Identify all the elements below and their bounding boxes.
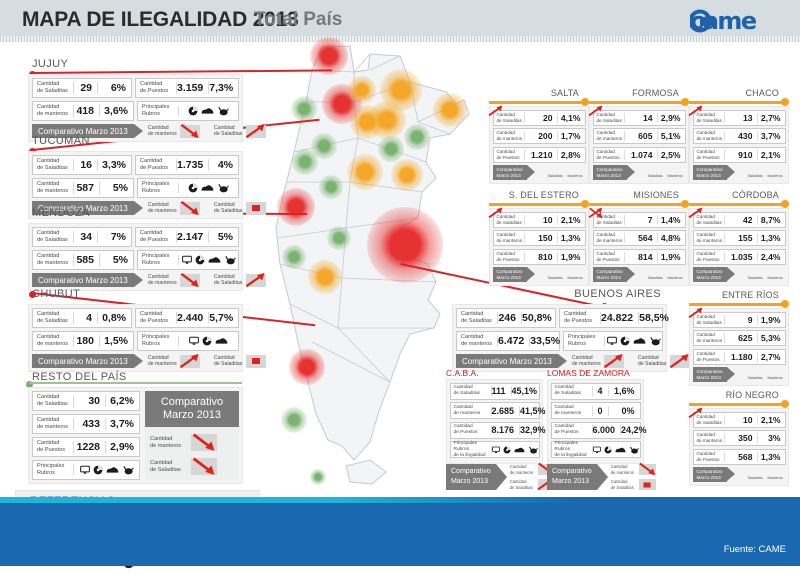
cell-value: 14: [624, 113, 657, 123]
cell-label: Cantidadde Puestos: [136, 311, 176, 325]
rubros-icons: [178, 183, 238, 193]
comparativo-arrows: SaladitasManteros: [748, 367, 786, 382]
map-bubble-orange: [308, 260, 342, 294]
cell-label: Cantidadde Puestos: [694, 451, 724, 462]
trend-up-icon: [749, 467, 761, 476]
disc-icon: [202, 336, 212, 346]
cell-label: Cantidadde Saladitas: [451, 385, 491, 397]
cell-puestos: Cantidadde Puestos9102,1%: [693, 147, 786, 163]
comparativo-text: ComparativoMarzo 2013: [697, 167, 723, 179]
cell-label: Cantidadde manteros: [594, 232, 624, 243]
cell-value: 2.440: [176, 312, 208, 324]
cell-label: Cantidadde Saladitas: [457, 311, 497, 325]
cell-value: 246: [497, 312, 521, 324]
cell-value: 1.074: [624, 150, 657, 160]
resto-arrow-label: Cantidadde Saladitas: [150, 460, 188, 474]
cell-label: Cantidadde Puestos: [552, 424, 592, 436]
comparativo-item-manteros: Cantidadde manteros: [611, 464, 656, 475]
comparativo-text: ComparativoMarzo 2013: [552, 467, 592, 487]
cell-value: 6.472: [497, 335, 529, 347]
rubros-icons: [604, 336, 662, 346]
panel-name-label: MENDOZA: [32, 207, 90, 219]
cell-saladitas: Cantidadde Saladitas91,9%: [693, 312, 786, 328]
resto-comparativo-text: ComparativoMarzo 2013: [147, 396, 237, 422]
comparativo-strip: Comparativo Marzo 2013Cantidadde mantero…: [32, 354, 239, 368]
cell-label: Cantidadde manteros: [33, 417, 73, 431]
cell-percent: 1,9%: [657, 252, 685, 262]
comparativo-item-label: Manteros: [668, 174, 683, 178]
comparativo-item-saladitas: Cantidadde Saladitas: [214, 354, 266, 368]
cell-percent: 5,1%: [657, 131, 685, 141]
cell-rubros-wrap: PrincipalesRubros: [32, 460, 140, 480]
comparativo-item-label: Cantidadde manteros: [148, 355, 178, 367]
map-bubble-red: [289, 349, 325, 385]
map-bubble-green: [281, 407, 307, 433]
map-bubble-orange: [391, 159, 423, 191]
cell-percent: 2,7%: [757, 352, 785, 362]
comparativo-tag: ComparativoMarzo 2013: [493, 267, 527, 282]
comparativo-strip: ComparativoMarzo 2013SaladitasManteros: [693, 467, 786, 482]
cell-value: 1.180: [724, 352, 757, 362]
disc-icon: [604, 446, 612, 454]
panel-accent-dot: [781, 98, 789, 106]
map-bubble-green: [282, 245, 306, 269]
cell-label: PrincipalesRubros: [33, 463, 73, 477]
cell-percent: 2,1%: [557, 215, 585, 225]
cell-value: 10: [724, 415, 757, 425]
cell-value: 155: [724, 233, 757, 243]
cell-percent: 3%: [757, 433, 785, 443]
trend-down-icon: [191, 434, 217, 451]
cell-row: Cantidadde Saladitas163,3%Cantidadde Pue…: [32, 155, 239, 175]
comparativo-arrows: SaladitasManteros: [748, 165, 786, 180]
panel-body: Cantidadde Saladitas347%Cantidadde Puest…: [28, 223, 243, 291]
comparativo-item-label: Cantidadde Saladitas: [214, 202, 244, 214]
cell-puestos: Cantidadde Puestos8.17632,9%: [450, 422, 540, 439]
monitor-icon: [593, 446, 601, 454]
cell-percent: 24,2%: [620, 425, 652, 435]
cell-label: Cantidadde manteros: [33, 334, 73, 348]
comparativo-item-label: Cantidadde Saladitas: [638, 355, 668, 367]
trend-up-icon: [670, 355, 690, 368]
panel-name-label: JUJUY: [32, 58, 68, 70]
comparativo-item-saladitas: Saladitas: [648, 267, 663, 280]
chicken-icon: [649, 336, 661, 346]
disc-icon: [620, 336, 630, 346]
comparativo-item-label: Manteros: [768, 276, 783, 280]
map-bubble-green: [327, 226, 351, 250]
comparativo-item-manteros: Manteros: [568, 165, 583, 178]
cell-value: 1.735: [176, 159, 208, 171]
cell-saladitas: Cantidadde Saladitas347%: [32, 227, 132, 247]
cell-label: Cantidadde manteros: [694, 130, 724, 141]
trend-down-icon: [180, 202, 200, 215]
comparativo-item-saladitas: Cantidadde Saladitas: [214, 124, 266, 138]
cell-puestos: Cantidadde Puestos24.82258,5%: [559, 308, 663, 328]
rubros-icons: [73, 465, 139, 475]
cell-label: Cantidadde manteros: [494, 232, 524, 243]
cell-value: 6.000: [592, 425, 621, 435]
cell-rubros-wrap: Principales Rubrosde la ilegalidad: [450, 441, 540, 458]
cell-manteros: Cantidadde manteros1801,5%: [32, 331, 134, 351]
cell-saladitas: Cantidadde Saladitas102,1%: [493, 212, 586, 228]
panel-body: Cantidadde Saladitas102,1%Cantidadde man…: [689, 408, 789, 486]
cell-percent: 32,9%: [519, 425, 551, 435]
comparativo-text: ComparativoMarzo 2013: [497, 167, 523, 179]
comparativo-item-saladitas: Saladitas: [748, 165, 763, 178]
cell-puestos: Cantidadde Puestos2.4405,7%: [135, 308, 239, 328]
comparativo-tag: Comparativo Marzo 2013: [456, 354, 558, 368]
map-bubble-green: [310, 469, 326, 485]
shoe-icon: [215, 336, 228, 346]
cell-puestos: Cantidadde Puestos1.2102,8%: [493, 147, 586, 163]
comparativo-strip: ComparativoMarzo 2013Cantidadde manteros…: [547, 464, 644, 490]
cell-label: PrincipalesRubros: [564, 334, 604, 348]
cell-percent: 45,1%: [511, 386, 543, 396]
shoe-icon: [201, 106, 214, 116]
panel-body: Cantidadde Saladitas40,8%Cantidadde Pues…: [28, 304, 243, 372]
cell-row: Cantidadde manteros1801,5%PrincipalesRub…: [32, 331, 239, 351]
comparativo-strip: ComparativoMarzo 2013Cantidadde manteros…: [446, 464, 543, 490]
comparativo-arrows: SaladitasManteros: [648, 267, 686, 282]
trend-up-icon: [769, 467, 781, 476]
panel-name-label: RÍO NEGRO: [726, 390, 779, 400]
trend-up-icon: [569, 165, 581, 174]
cell-percent: 2,7%: [757, 113, 785, 123]
map-bubble-red: [277, 188, 315, 226]
comparativo-item-saladitas: Saladitas: [548, 267, 563, 280]
cell-row: Cantidadde Saladitas40,8%Cantidadde Pues…: [32, 308, 239, 328]
cell-label: Cantidadde manteros: [694, 432, 724, 443]
comparativo-item-saladitas: Saladitas: [548, 165, 563, 178]
panel-name-label: FORMOSA: [632, 88, 679, 98]
cell-value: 7: [624, 215, 657, 225]
comparativo-item-label: Cantidadde Saladitas: [214, 274, 244, 286]
panel-body: Cantidadde Saladitas41,6%Cantidadde mant…: [547, 379, 644, 464]
cell-manteros: Cantidadde manteros6255,3%: [693, 330, 786, 346]
comparativo-strip: ComparativoMarzo 2013SaladitasManteros: [693, 267, 786, 282]
cell-row: Cantidadde manteros5875%PrincipalesRubro…: [32, 178, 239, 198]
cell-percent: 58,5%: [638, 312, 672, 324]
comparativo-strip: ComparativoMarzo 2013SaladitasManteros: [693, 367, 786, 382]
cell-manteros: Cantidadde manteros6055,1%: [593, 128, 686, 144]
trend-up-icon: [569, 267, 581, 276]
panel-name-label: RESTO DEL PAÍS: [32, 371, 127, 383]
trend-up-icon: [246, 274, 266, 287]
map-bubble-green: [292, 149, 318, 175]
comparativo-text: ComparativoMarzo 2013: [697, 269, 723, 281]
cell-percent: 1,3%: [757, 233, 785, 243]
cell-value: 180: [73, 335, 99, 347]
cell-label: Cantidadde Puestos: [694, 149, 724, 160]
cell-puestos: Cantidadde Puestos3.1597,3%: [135, 78, 239, 98]
trend-up-icon: [769, 267, 781, 276]
shoe-icon: [106, 465, 119, 475]
comparativo-tag: ComparativoMarzo 2013: [547, 464, 597, 490]
cell-value: 564: [624, 233, 657, 243]
cell-row: Cantidadde Saladitas347%Cantidadde Puest…: [32, 227, 239, 247]
cell-label: PrincipalesRubros: [138, 181, 178, 195]
comparativo-item-label: Cantidadde Saladitas: [214, 355, 244, 367]
cell-manteros: Cantidadde manteros2.68541,5%: [450, 402, 540, 419]
cell-value: 2.147: [176, 231, 208, 243]
panel-body: Cantidadde Saladitas24650,8%Cantidadde P…: [452, 304, 667, 372]
cell-value: 4: [592, 386, 608, 396]
comparativo-arrows: SaladitasManteros: [548, 165, 586, 180]
cell-label: Cantidadde Saladitas: [552, 385, 592, 397]
cell-percent: 3,3%: [97, 159, 131, 171]
comparativo-item-label: Saladitas: [548, 174, 563, 178]
cell-rubros-wrap: PrincipalesRubros: [563, 331, 663, 351]
cell-row: Cantidadde manteros6.47233,5%Principales…: [456, 331, 663, 351]
panel-accent-dot: [781, 300, 789, 308]
resto-table: Cantidadde Saladitas306,2%Cantidadde man…: [32, 391, 140, 480]
comparativo-text: ComparativoMarzo 2013: [451, 467, 491, 487]
cell-label: Cantidadde manteros: [494, 130, 524, 141]
cell-label: Cantidadde Puestos: [136, 81, 176, 95]
cell-label: Cantidadde manteros: [33, 104, 73, 118]
rubros-icons: [178, 106, 238, 116]
cell-value: 1228: [73, 441, 105, 453]
trend-up-icon: [549, 267, 561, 276]
panel-name-label: ENTRE RÍOS: [722, 290, 779, 300]
map-bubble-green: [378, 136, 404, 162]
monitor-icon: [607, 336, 617, 346]
cell-value: 814: [624, 252, 657, 262]
cell-percent: 6%: [97, 82, 131, 94]
cell-saladitas: Cantidadde Saladitas24650,8%: [456, 308, 556, 328]
cell-percent: 41,5%: [519, 406, 551, 416]
cell-manteros: Cantidadde manteros5875%: [32, 178, 134, 198]
cell-label: Cantidadde manteros: [33, 253, 73, 267]
comparativo-item-saladitas: Saladitas: [648, 165, 663, 178]
trend-up-icon: [749, 165, 761, 174]
trend-down-icon: [649, 267, 661, 276]
chicken-icon: [224, 255, 236, 265]
trend-flat-icon: [246, 355, 266, 368]
cell-value: 810: [524, 252, 557, 262]
cell-row: Cantidadde Saladitas296%Cantidadde Puest…: [32, 78, 239, 98]
cell-value: 568: [724, 452, 757, 462]
cell-label: Principales Rubrosde la ilegalidad: [552, 441, 592, 459]
comparativo-tag: Comparativo Marzo 2013: [32, 273, 134, 287]
cell-value: 587: [73, 182, 99, 194]
cell-value: 150: [524, 233, 557, 243]
comparativo-tag: ComparativoMarzo 2013: [693, 165, 727, 180]
cell-value: 418: [73, 105, 99, 117]
comparativo-item-label: Cantidadde manteros: [572, 355, 602, 367]
comparativo-item-saladitas: Cantidadde Saladitas: [638, 354, 690, 368]
cell-value: 13: [724, 113, 757, 123]
cell-percent: 2,1%: [757, 150, 785, 160]
cell-label: Cantidadde manteros: [694, 332, 724, 343]
trend-up-icon: [246, 125, 266, 138]
panel-accent-dot: [781, 200, 789, 208]
shoe-icon: [633, 336, 646, 346]
map-bubble-orange: [350, 105, 384, 139]
comparativo-arrows: SaladitasManteros: [548, 267, 586, 282]
cell-saladitas: Cantidadde Saladitas40,8%: [32, 308, 132, 328]
cell-label: Cantidadde Saladitas: [33, 394, 73, 408]
map-bubble-orange: [347, 154, 383, 190]
resto-comparativo: ComparativoMarzo 2013Cantidadde manteros…: [145, 391, 239, 480]
cell-label: Cantidadde Puestos: [560, 311, 600, 325]
comparativo-item-label: Cantidadde Saladitas: [510, 479, 536, 489]
panel-body: Cantidadde Saladitas296%Cantidadde Puest…: [28, 74, 243, 142]
comparativo-item-label: Saladitas: [748, 476, 763, 480]
cell-row: Cantidadde manteros4183,6%PrincipalesRub…: [32, 101, 239, 121]
cell-label: Cantidadde Saladitas: [33, 230, 73, 244]
cell-percent: 4,1%: [557, 113, 585, 123]
comparativo-item-saladitas: Cantidadde Saladitas: [214, 201, 266, 215]
comparativo-item-label: Manteros: [568, 276, 583, 280]
came-logo-icon: came: [690, 8, 766, 34]
comparativo-item-saladitas: Saladitas: [748, 467, 763, 480]
shoe-icon: [201, 183, 214, 193]
trend-up-icon: [769, 165, 781, 174]
page-header: MAPA DE ILEGALIDAD 2013 Total País came: [0, 0, 800, 40]
trend-down-icon: [180, 274, 200, 287]
cell-value: 42: [724, 215, 757, 225]
cell-label: Cantidadde Saladitas: [33, 81, 73, 95]
cell-manteros: Cantidadde manteros1551,3%: [693, 230, 786, 246]
comparativo-text: ComparativoMarzo 2013: [597, 269, 623, 281]
comparativo-item-label: Cantidadde manteros: [611, 464, 637, 474]
cell-saladitas: Cantidadde Saladitas71,4%: [593, 212, 686, 228]
comparativo-item-manteros: Manteros: [768, 467, 783, 480]
cell-value: 9: [724, 315, 757, 325]
map-bubble-orange: [348, 76, 376, 104]
cell-puestos: Cantidadde Puestos6.00024,2%: [551, 422, 641, 439]
resto-comparativo-tag: ComparativoMarzo 2013: [145, 391, 239, 427]
cell-value: 625: [724, 333, 757, 343]
trend-down-icon: [180, 125, 200, 138]
comparativo-strip: ComparativoMarzo 2013SaladitasManteros: [693, 165, 786, 180]
shoe-icon: [208, 255, 221, 265]
comparativo-item-label: Saladitas: [748, 276, 763, 280]
map-bubble-green: [404, 124, 430, 150]
cell-percent: 5%: [99, 182, 133, 194]
cell-manteros: Cantidadde manteros6.47233,5%: [456, 331, 560, 351]
disc-icon: [188, 183, 198, 193]
disc-icon: [195, 255, 205, 265]
cell-label: PrincipalesRubros: [138, 334, 178, 348]
cell-row: Cantidadde manteros5855%PrincipalesRubro…: [32, 250, 239, 270]
cell-label: Cantidadde Puestos: [136, 158, 176, 172]
comparativo-item-manteros: Cantidadde manteros: [148, 273, 200, 287]
trend-up-icon: [749, 267, 761, 276]
cell-label: Cantidadde Puestos: [494, 149, 524, 160]
shoe-icon: [514, 446, 525, 454]
cell-manteros: Cantidadde manteros4303,7%: [693, 128, 786, 144]
trend-flat-icon: [639, 479, 656, 490]
comparativo-item-label: Cantidadde Saladitas: [214, 125, 244, 137]
cell-value: 111: [491, 386, 511, 396]
cell-percent: 2,8%: [557, 150, 585, 160]
cell-percent: 0,8%: [97, 312, 131, 324]
cell-percent: 5%: [208, 231, 238, 243]
comparativo-item-manteros: Manteros: [668, 165, 683, 178]
comparativo-text: ComparativoMarzo 2013: [697, 369, 723, 381]
cell-label: Cantidadde manteros: [33, 181, 73, 195]
cell-percent: 3,6%: [99, 105, 133, 117]
cell-label: Cantidadde Puestos: [694, 351, 724, 362]
cell-label: Cantidadde Puestos: [694, 251, 724, 262]
comparativo-item-label: Cantidadde manteros: [148, 202, 178, 214]
cell-label: Cantidadde Puestos: [494, 251, 524, 262]
cell-percent: 1,4%: [657, 215, 685, 225]
panel-name-label: TUCUMÁN: [32, 135, 90, 147]
panel-body: Cantidadde Saladitas428,7%Cantidadde man…: [689, 208, 789, 286]
cell-saladitas: Cantidadde Saladitas132,7%: [693, 110, 786, 126]
comparativo-item-manteros: Cantidadde manteros: [148, 201, 200, 215]
comparativo-item-manteros: Cantidadde manteros: [148, 124, 200, 138]
monitor-icon: [492, 446, 500, 454]
comparativo-arrows: SaladitasManteros: [648, 165, 686, 180]
cell-saladitas: Cantidadde Saladitas163,3%: [32, 155, 132, 175]
panel-name-label: CHUBUT: [32, 288, 80, 300]
cell-puestos: Cantidadde Puestos12282,9%: [32, 437, 140, 457]
cell-rubros-wrap: Principales Rubrosde la ilegalidad: [551, 441, 641, 458]
cell-rubros-wrap: PrincipalesRubros: [137, 178, 239, 198]
trend-up-icon: [180, 355, 200, 368]
cell-percent: 1,9%: [557, 252, 585, 262]
trend-up-icon: [749, 367, 761, 376]
cell-value: 2.685: [491, 406, 520, 416]
comparativo-text: ComparativoMarzo 2013: [597, 167, 623, 179]
cell-value: 30: [73, 395, 105, 407]
cell-value: 1.035: [724, 252, 757, 262]
chicken-icon: [122, 465, 134, 475]
cell-value: 24.822: [600, 312, 638, 324]
cell-rubros-wrap: PrincipalesRubros: [137, 101, 239, 121]
cell-manteros: Cantidadde manteros4333,7%: [32, 414, 140, 434]
comparativo-item-label: Manteros: [668, 276, 683, 280]
comparativo-text: ComparativoMarzo 2013: [697, 469, 723, 481]
comparativo-item-label: Cantidadde Saladitas: [611, 479, 637, 489]
comparativo-item-manteros: Manteros: [768, 267, 783, 280]
cell-percent: 2,4%: [757, 252, 785, 262]
cell-row: Cantidadde Saladitas24650,8%Cantidadde P…: [456, 308, 663, 328]
cell-label: Principales Rubrosde la ilegalidad: [451, 441, 491, 459]
disc-icon: [93, 465, 103, 475]
comparativo-item-label: Manteros: [768, 376, 783, 380]
monitor-icon: [80, 465, 90, 475]
footer-accent-bar: [0, 497, 800, 503]
comparativo-item-manteros: Manteros: [568, 267, 583, 280]
rubros-icons: [592, 446, 640, 454]
map-bubble-green: [319, 175, 343, 199]
monitor-icon: [182, 255, 192, 265]
cell-value: 34: [73, 231, 97, 243]
comparativo-item-saladitas: Saladitas: [748, 367, 763, 380]
comparativo-item-label: Manteros: [768, 174, 783, 178]
disc-icon: [188, 106, 198, 116]
comparativo-tag: Comparativo Marzo 2013: [32, 354, 134, 368]
trend-down-icon: [639, 464, 656, 475]
comparativo-item-manteros: Cantidadde manteros: [148, 354, 200, 368]
cell-manteros: Cantidadde manteros3503%: [693, 430, 786, 446]
comparativo-item-saladitas: Cantidadde Saladitas: [611, 479, 656, 490]
cell-percent: 6,2%: [105, 395, 139, 407]
cell-puestos: Cantidadde Puestos1.1802,7%: [693, 349, 786, 365]
panel-name-label: LOMAS DE ZAMORA: [547, 368, 630, 378]
comparativo-tag: ComparativoMarzo 2013: [693, 467, 727, 482]
comparativo-item-manteros: Manteros: [668, 267, 683, 280]
comparativo-strip: ComparativoMarzo 2013SaladitasManteros: [593, 267, 686, 282]
panel-name-label: CÓRDOBA: [732, 190, 779, 200]
map-bubble-orange: [433, 93, 467, 127]
